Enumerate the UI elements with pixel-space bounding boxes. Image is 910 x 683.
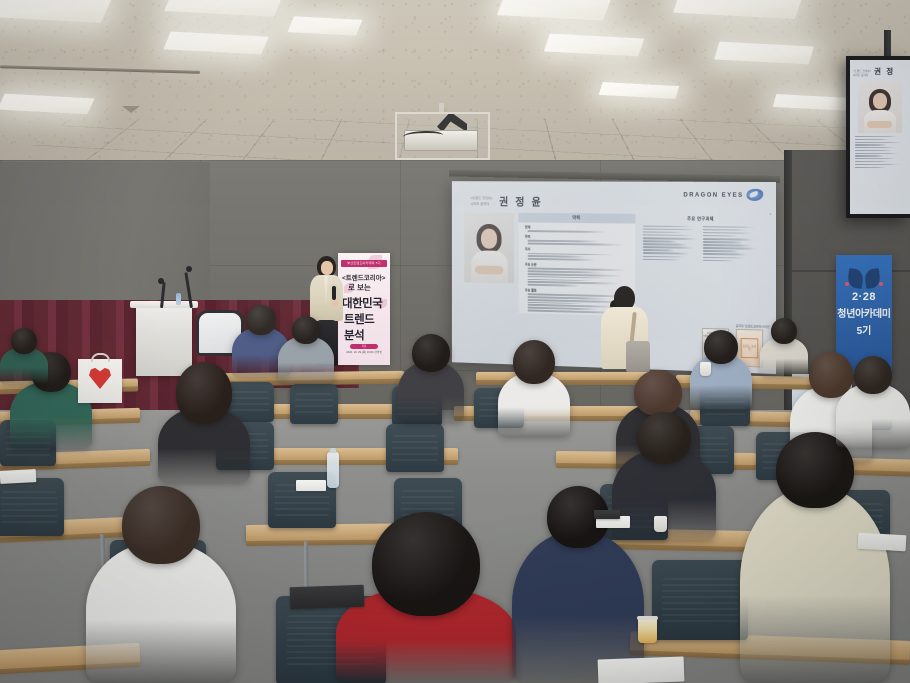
banner-line1: <트렌드코리아> — [342, 272, 385, 282]
bag-handle — [91, 353, 110, 362]
handout-paper — [296, 480, 326, 491]
audience-member-head — [246, 305, 276, 335]
slide-kicker-line2: 시리즈 공저자 — [470, 202, 493, 208]
audience-member — [398, 334, 464, 422]
portrait-arms — [867, 121, 892, 128]
chair — [290, 384, 338, 424]
ceiling — [0, 0, 910, 180]
tv-wall-mount — [884, 30, 891, 58]
audience-member — [0, 328, 48, 384]
tv-screen-content: <트렌드 코리아> 시리즈 공저자 권 정 — [850, 60, 910, 214]
ceiling-projector — [395, 112, 490, 160]
research-items — [640, 223, 762, 263]
audience-member — [740, 432, 890, 683]
chair — [652, 560, 748, 640]
banner-top-chip: 부산트렌드아카데미 5기 — [341, 260, 387, 267]
sprinkler-head — [122, 106, 140, 113]
audience-member-head — [122, 486, 200, 564]
lecture-hall-photo: <트렌드 코리아> 시리즈 공저자 권 정 — [0, 0, 910, 683]
tv-slide-header: <트렌드 코리아> 시리즈 공저자 권 정 — [853, 64, 907, 77]
banner-right-line3: 5기 — [836, 322, 892, 337]
audience-member-head — [637, 412, 691, 464]
portrait-face — [481, 229, 497, 249]
presenter-hand — [332, 300, 339, 307]
lectern-bottle — [176, 293, 181, 305]
slide-header: <트렌드 코리아> 시리즈 공저자 권 정 윤 DRAGON EYES — [460, 188, 767, 211]
chair — [0, 478, 64, 536]
handout-paper — [858, 533, 907, 551]
book-caption — [702, 322, 729, 327]
banner-line5: 분석 — [344, 327, 364, 343]
tv-text-lines — [853, 136, 907, 168]
lectern-top-surface — [130, 301, 198, 308]
projector-cable — [403, 131, 443, 141]
handheld-microphone — [332, 286, 336, 300]
microphone-head — [186, 266, 192, 272]
chair — [386, 424, 444, 472]
standing-attendee — [598, 286, 650, 382]
tv-speaker-name: 권 정 — [874, 66, 895, 77]
banner-badge: 특강 — [350, 344, 378, 349]
brand-lockup: DRAGON EYES — [683, 189, 763, 201]
portrait-face — [873, 93, 887, 109]
water-bottle — [327, 452, 339, 488]
audience-member — [158, 362, 250, 482]
audience-member-head — [11, 328, 37, 354]
audience-member-head — [634, 370, 682, 416]
biography-column-header: 약력 — [519, 213, 636, 223]
slide-kicker-block: <트렌드 코리아> 시리즈 공저자 — [470, 196, 493, 209]
dragon-icon — [747, 189, 764, 201]
audience-member-head — [176, 362, 232, 424]
tv-speaker-portrait — [858, 81, 902, 133]
audience-member-head — [292, 316, 320, 344]
heart-graphic — [89, 367, 111, 389]
ceiling-tv-monitor: <트렌드 코리아> 시리즈 공저자 권 정 — [846, 56, 910, 218]
banner-right-line2: 청년아카데미 — [836, 305, 892, 320]
audience-member-torso — [740, 487, 890, 683]
banner-top-chip-text: 부산트렌드아카데미 5기 — [341, 260, 387, 267]
brand-text: DRAGON EYES — [683, 191, 743, 198]
banner-line3: 대한민국 — [342, 295, 382, 311]
presenter-face — [321, 261, 333, 275]
banner-badge-text: 특강 — [350, 344, 378, 349]
audience-member-head — [771, 318, 797, 344]
audience-member — [86, 486, 236, 683]
research-items-right — [702, 226, 759, 264]
audience-member-head — [412, 334, 450, 372]
laurel-torch-emblem-icon — [845, 267, 883, 289]
banner-line2: 로 보는 — [348, 282, 371, 293]
banner-right-line1: 2·28 — [836, 291, 892, 303]
audience-member-head — [704, 330, 738, 364]
portrait-arms — [475, 266, 503, 275]
heart-gift-bag — [78, 359, 122, 403]
audience-member-head — [372, 512, 480, 616]
tv-kicker: <트렌드 코리아> 시리즈 공저자 — [853, 70, 871, 77]
research-column: 주요 연구과제 — [640, 214, 762, 319]
microphone-head — [158, 278, 164, 284]
slide-speaker-name: 권 정 윤 — [499, 194, 543, 210]
research-items-left — [643, 225, 699, 262]
audience-member-head — [854, 356, 892, 394]
speaker-portrait — [464, 212, 514, 283]
paper-cup — [700, 362, 711, 376]
audience-member — [498, 340, 570, 436]
audience-member — [836, 356, 910, 448]
bio-section-title: 저서 — [525, 247, 632, 253]
handout-paper — [598, 657, 685, 683]
banner-line4: 트렌드 — [344, 311, 374, 327]
slide-page-number: 1 — [769, 212, 771, 216]
handout-booklet — [290, 585, 365, 610]
audience-member — [278, 316, 334, 384]
audience-member — [760, 318, 808, 376]
fruit-cup — [638, 618, 657, 643]
banner-info: 2024. 10. 29.(화) 19:00 강의실 — [342, 351, 386, 354]
audience-member-head — [513, 340, 555, 384]
handout-booklet — [594, 510, 620, 519]
paper-cup — [654, 516, 667, 532]
handout-paper — [0, 469, 36, 484]
